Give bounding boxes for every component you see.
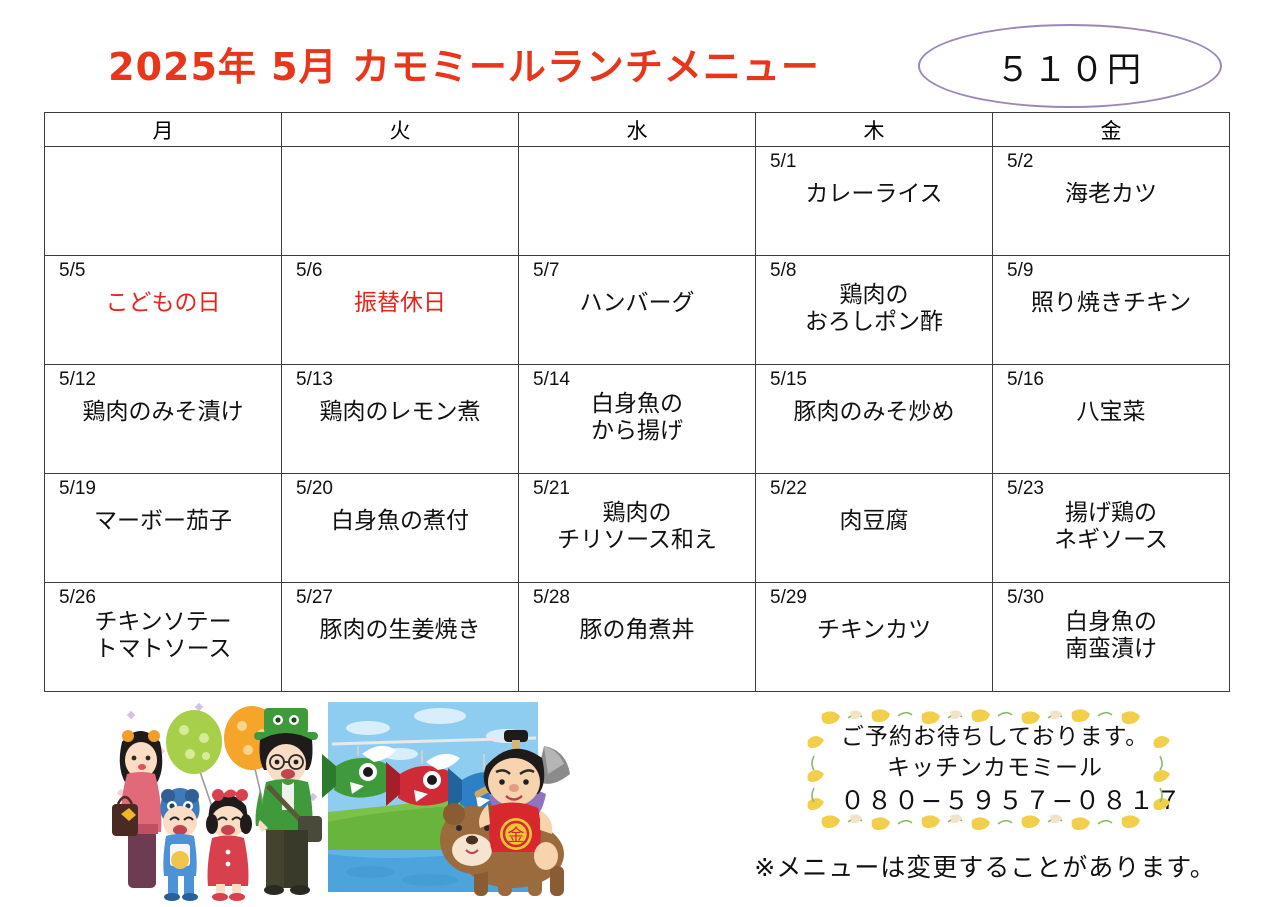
cell-date: 5/19 [59,478,96,501]
menu-cell: 5/26チキンソテー トマトソース [45,583,282,692]
cell-date: 5/16 [1007,369,1044,392]
cell-date: 5/14 [533,369,570,392]
cell-menu-name: チキンソテー トマトソース [45,609,281,663]
cell-menu-name: 照り焼きチキン [993,290,1229,317]
cell-menu-name: 豚肉の生姜焼き [282,617,518,644]
menu-cell: 5/30白身魚の 南蛮漬け [993,583,1230,692]
menu-cell: 5/20白身魚の煮付 [282,474,519,583]
column-header-fri: 金 [993,113,1230,147]
cell-menu-name: 鶏肉のレモン煮 [282,399,518,426]
cell-date: 5/1 [770,151,796,174]
menu-cell-empty [519,147,756,256]
cell-date: 5/5 [59,260,85,283]
cell-menu-name: カレーライス [756,181,992,208]
menu-cell: 5/8鶏肉の おろしポン酢 [756,256,993,365]
cell-menu-name: 豚肉のみそ炒め [756,399,992,426]
cell-date: 5/20 [296,478,333,501]
table-row: 5/1カレーライス5/2海老カツ [45,147,1230,256]
illustration-group: 金 [100,694,660,902]
kintaro-bib-label: 金 [508,826,525,846]
holiday-label: 振替休日 [282,290,518,317]
menu-cell: 5/15豚肉のみそ炒め [756,365,993,474]
cell-date: 5/21 [533,478,570,501]
column-header-thu: 木 [756,113,993,147]
cell-menu-name: マーボー茄子 [45,508,281,535]
menu-cell: 5/21鶏肉の チリソース和え [519,474,756,583]
menu-cell: 5/28豚の角煮丼 [519,583,756,692]
cell-date: 5/23 [1007,478,1044,501]
table-row: 5/26チキンソテー トマトソース5/27豚肉の生姜焼き5/28豚の角煮丼5/2… [45,583,1230,692]
column-header-wed: 水 [519,113,756,147]
cell-date: 5/29 [770,587,807,610]
column-header-tue: 火 [282,113,519,147]
cell-menu-name: チキンカツ [756,617,992,644]
figure-father [254,708,322,895]
menu-cell-empty [282,147,519,256]
cell-menu-name: 揚げ鶏の ネギソース [993,500,1229,554]
cell-menu-name: 鶏肉の チリソース和え [519,500,755,554]
cell-menu-name: 海老カツ [993,181,1229,208]
cell-menu-name: 白身魚の煮付 [282,508,518,535]
menu-cell: 5/23揚げ鶏の ネギソース [993,474,1230,583]
menu-cell: 5/13鶏肉のレモン煮 [282,365,519,474]
table-row: 5/19マーボー茄子5/20白身魚の煮付5/21鶏肉の チリソース和え5/22肉… [45,474,1230,583]
menu-cell-empty [45,147,282,256]
cell-date: 5/28 [533,587,570,610]
figure-boy [160,788,199,901]
page-header: 2025年 5月 カモミールランチメニュー ５１０円 [0,0,1280,112]
family-with-balloons-illustration [112,703,322,901]
shop-name: キッチンカモミール [840,753,1150,784]
reservation-line: ご予約お待ちしております。 [840,722,1150,753]
menu-cell: 5/22肉豆腐 [756,474,993,583]
menu-table-body: 5/1カレーライス5/2海老カツ5/5こどもの日5/6振替休日5/7ハンバーグ5… [45,147,1230,692]
cell-menu-name: 白身魚の 南蛮漬け [993,609,1229,663]
menu-cell: 5/9照り焼きチキン [993,256,1230,365]
cell-date: 5/22 [770,478,807,501]
figure-girl [206,789,252,901]
illustration-svg: 金 [100,694,660,902]
cell-date: 5/8 [770,260,796,283]
menu-cell: 5/27豚肉の生姜焼き [282,583,519,692]
cell-date: 5/30 [1007,587,1044,610]
holiday-label: こどもの日 [45,290,281,317]
menu-cell: 5/12鶏肉のみそ漬け [45,365,282,474]
cell-menu-name: 鶏肉のみそ漬け [45,399,281,426]
menu-cell: 5/1カレーライス [756,147,993,256]
menu-cell: 5/14白身魚の から揚げ [519,365,756,474]
cell-date: 5/26 [59,587,96,610]
menu-cell: 5/2海老カツ [993,147,1230,256]
table-header-row: 月 火 水 木 金 [45,113,1230,147]
cell-date: 5/2 [1007,151,1033,174]
cell-date: 5/27 [296,587,333,610]
price-badge-label: ５１０円 [996,42,1144,91]
cell-menu-name: 八宝菜 [993,399,1229,426]
cell-date: 5/12 [59,369,96,392]
cell-date: 5/15 [770,369,807,392]
column-header-mon: 月 [45,113,282,147]
cell-date: 5/6 [296,260,322,283]
menu-cell: 5/5こどもの日 [45,256,282,365]
menu-cell: 5/29チキンカツ [756,583,993,692]
cell-menu-name: 肉豆腐 [756,508,992,535]
cell-menu-name: 鶏肉の おろしポン酢 [756,282,992,336]
menu-cell: 5/19マーボー茄子 [45,474,282,583]
cell-date: 5/13 [296,369,333,392]
table-row: 5/12鶏肉のみそ漬け5/13鶏肉のレモン煮5/14白身魚の から揚げ5/15豚… [45,365,1230,474]
menu-cell: 5/6振替休日 [282,256,519,365]
reservation-info-box: ご予約お待ちしております。 キッチンカモミール ０８０−５９５７−０８１７ [800,706,1190,834]
menu-cell: 5/16八宝菜 [993,365,1230,474]
menu-change-note: ※メニューは変更することがあります。 [735,848,1235,884]
monthly-menu-table: 月 火 水 木 金 5/1カレーライス5/2海老カツ5/5こどもの日5/6振替休… [44,112,1230,692]
cell-menu-name: 豚の角煮丼 [519,617,755,644]
cell-date: 5/7 [533,260,559,283]
page-title: 2025年 5月 カモミールランチメニュー [44,36,884,91]
table-row: 5/5こどもの日5/6振替休日5/7ハンバーグ5/8鶏肉の おろしポン酢5/9照… [45,256,1230,365]
cell-date: 5/9 [1007,260,1033,283]
phone-number: ０８０−５９５７−０８１７ [840,784,1150,818]
menu-cell: 5/7ハンバーグ [519,256,756,365]
cell-menu-name: 白身魚の から揚げ [519,391,755,445]
figure-mother [112,730,162,888]
cell-menu-name: ハンバーグ [519,290,755,317]
price-badge: ５１０円 [918,24,1222,108]
